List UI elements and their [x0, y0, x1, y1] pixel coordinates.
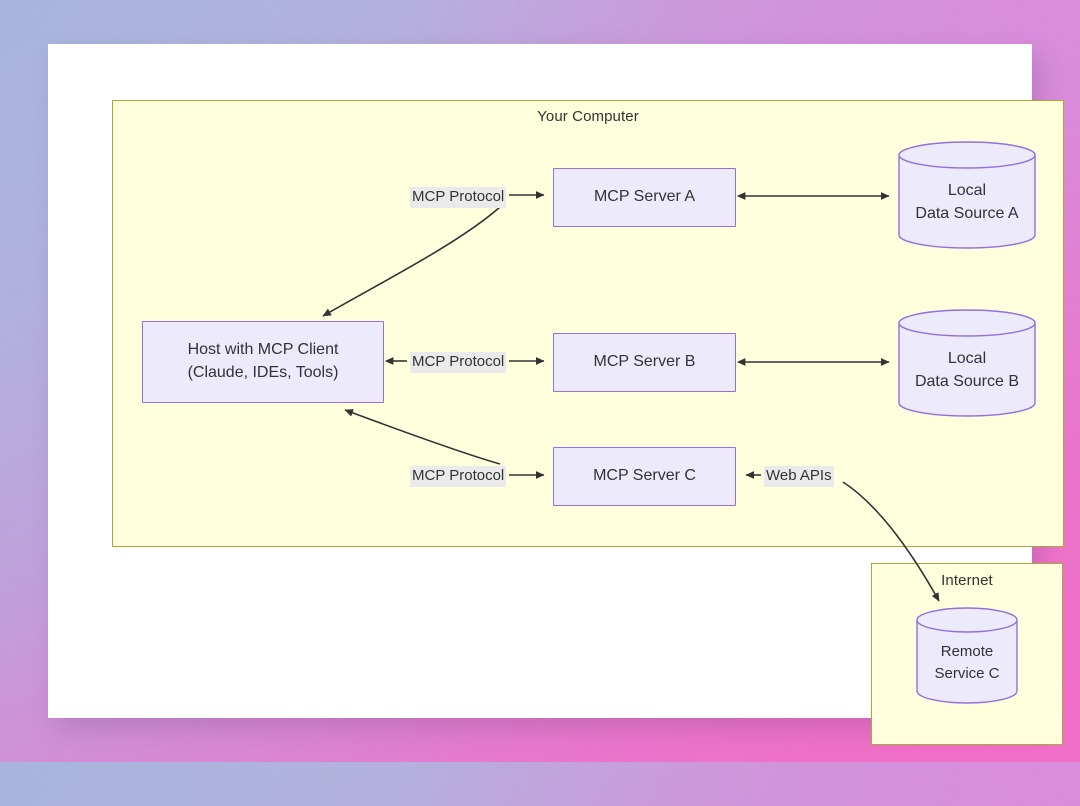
node-host-with-mcp-client[interactable]: Host with MCP Client (Claude, IDEs, Tool…	[142, 321, 384, 403]
node-host-line2: (Claude, IDEs, Tools)	[188, 362, 339, 385]
diagram-card: Your Computer Internet	[48, 44, 1032, 718]
cluster-your-computer-label: Your Computer	[113, 108, 1063, 125]
node-mcp-server-a[interactable]: MCP Server A	[553, 168, 736, 227]
node-db-c-line1: Remote	[934, 641, 999, 663]
node-remote-service-c-text: Remote Service C	[934, 627, 999, 685]
node-db-a-line2: Data Source A	[915, 202, 1018, 225]
node-db-b-line1: Local	[915, 347, 1019, 370]
node-mcp-server-a-label: MCP Server A	[594, 186, 695, 209]
edge-label-web-apis: Web APIs	[764, 466, 834, 487]
node-mcp-server-c[interactable]: MCP Server C	[553, 447, 736, 506]
node-db-b-line2: Data Source B	[915, 370, 1019, 393]
node-local-data-source-a[interactable]: Local Data Source A	[898, 141, 1036, 249]
node-local-data-source-b[interactable]: Local Data Source B	[898, 309, 1036, 417]
node-local-data-source-b-text: Local Data Source B	[915, 333, 1019, 393]
node-mcp-server-b[interactable]: MCP Server B	[553, 333, 736, 392]
cluster-internet-label: Internet	[872, 572, 1062, 589]
edge-label-mcp-protocol-b: MCP Protocol	[410, 352, 506, 373]
node-mcp-server-c-label: MCP Server C	[593, 465, 696, 488]
node-local-data-source-a-text: Local Data Source A	[915, 165, 1018, 225]
node-db-a-line1: Local	[915, 179, 1018, 202]
edge-label-mcp-protocol-c: MCP Protocol	[410, 466, 506, 487]
node-mcp-server-b-label: MCP Server B	[594, 351, 696, 374]
node-host-line1: Host with MCP Client	[188, 339, 339, 362]
diagram-canvas: Your Computer Internet	[0, 0, 1080, 762]
node-db-c-line2: Service C	[934, 663, 999, 685]
node-remote-service-c[interactable]: Remote Service C	[916, 607, 1018, 704]
edge-label-mcp-protocol-a: MCP Protocol	[410, 187, 506, 208]
